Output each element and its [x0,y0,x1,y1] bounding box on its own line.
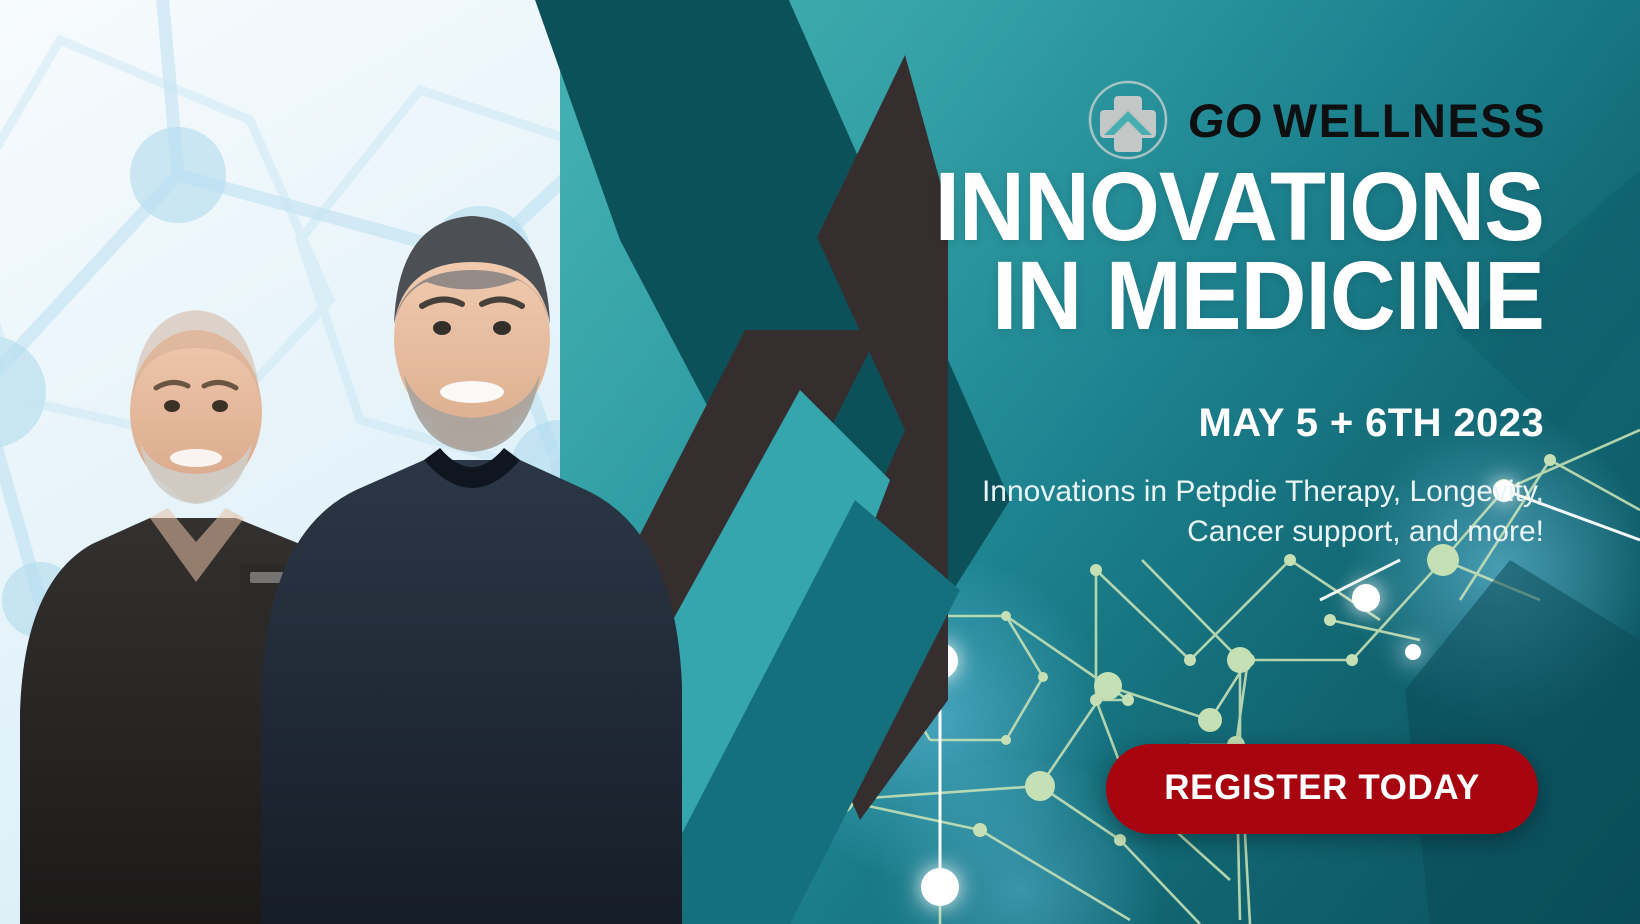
page-title: INNOVATIONS IN MEDICINE [867,162,1544,340]
brand-name-wellness: WELLNESS [1273,94,1546,147]
event-dates: MAY 5 + 6TH 2023 [824,401,1544,446]
content-column: GOWELLNESS INNOVATIONS IN MEDICINE MAY 5… [820,0,1560,924]
person-right [262,216,682,924]
brand-name-go: GO [1188,94,1262,147]
event-description-line-2: support, and more! [1292,515,1544,548]
avatar [0,112,700,924]
headline-line-2: IN MEDICINE [867,251,1544,340]
promotional-banner: GOWELLNESS INNOVATIONS IN MEDICINE MAY 5… [0,0,1640,924]
medical-cross-up-arrow-icon [1086,78,1170,162]
brand-name: GOWELLNESS [1188,97,1546,144]
brand-logo: GOWELLNESS [1086,78,1546,162]
register-today-button[interactable]: REGISTER TODAY [1106,744,1538,834]
event-description: Innovations in Petpdie Therapy, Longevit… [924,472,1544,552]
